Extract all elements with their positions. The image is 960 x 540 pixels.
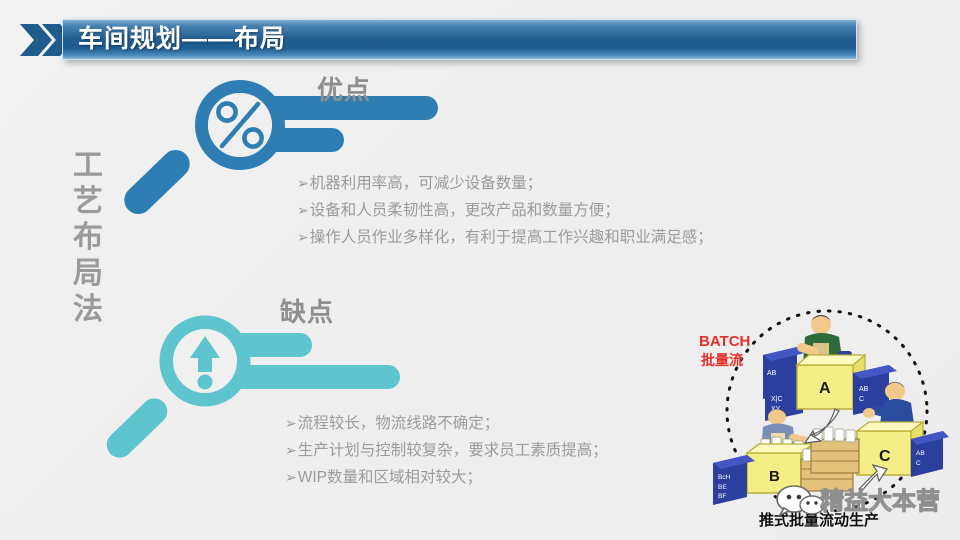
- station-label-c: C: [879, 448, 891, 465]
- list-item-text: 流程较长，物流线路不确定；: [298, 415, 500, 432]
- list-item: ➢机器利用率高，可减少设备数量；: [297, 170, 713, 197]
- list-item-text: WIP数量和区域相对较大；: [298, 469, 482, 486]
- svg-text:X|C: X|C: [771, 396, 783, 403]
- batch-label-en: BATCH: [699, 333, 750, 350]
- station-label-a: A: [819, 380, 831, 397]
- bullet-marker: ➢: [297, 202, 309, 218]
- svg-text:BE: BE: [718, 484, 727, 491]
- svg-text:BcH: BcH: [718, 474, 731, 481]
- list-item: ➢生产计划与控制较复杂，要求员工素质提高；: [285, 437, 608, 464]
- svg-text:C: C: [916, 460, 921, 467]
- svg-text:AB: AB: [916, 450, 925, 457]
- section-heading-advantages: 优点: [317, 70, 371, 107]
- svg-text:BF: BF: [718, 493, 726, 500]
- bullet-list-disadvantages: ➢流程较长，物流线路不确定； ➢生产计划与控制较复杂，要求员工素质提高； ➢WI…: [285, 410, 608, 491]
- push-batch-flow-diagram: BATCH 批量流 AB X|C XY W: [693, 303, 951, 533]
- bullet-marker: ➢: [285, 415, 297, 431]
- svg-text:AB: AB: [767, 370, 777, 377]
- illustration-caption: 推式批量流动生产: [759, 511, 879, 529]
- bullet-marker: ➢: [285, 469, 297, 485]
- section-heading-disadvantages: 缺点: [280, 292, 334, 329]
- batch-label-cn: 批量流: [701, 352, 743, 368]
- list-item: ➢设备和人员柔韧性高，更改产品和数量方便；: [297, 197, 713, 224]
- list-item: ➢WIP数量和区域相对较大；: [285, 464, 608, 491]
- bullet-marker: ➢: [297, 175, 309, 191]
- list-item: ➢流程较长，物流线路不确定；: [285, 410, 608, 437]
- svg-text:AB: AB: [859, 386, 869, 393]
- list-item-text: 生产计划与控制较复杂，要求员工素质提高；: [298, 442, 608, 459]
- list-item-text: 机器利用率高，可减少设备数量；: [310, 175, 543, 192]
- svg-text:C: C: [859, 396, 864, 403]
- slide-root: 车间规划——布局 工 艺 布 局 法 优点: [0, 0, 960, 540]
- list-item-text: 设备和人员柔韧性高，更改产品和数量方便；: [310, 202, 620, 219]
- bullet-marker: ➢: [285, 442, 297, 458]
- station-label-b: B: [769, 468, 780, 485]
